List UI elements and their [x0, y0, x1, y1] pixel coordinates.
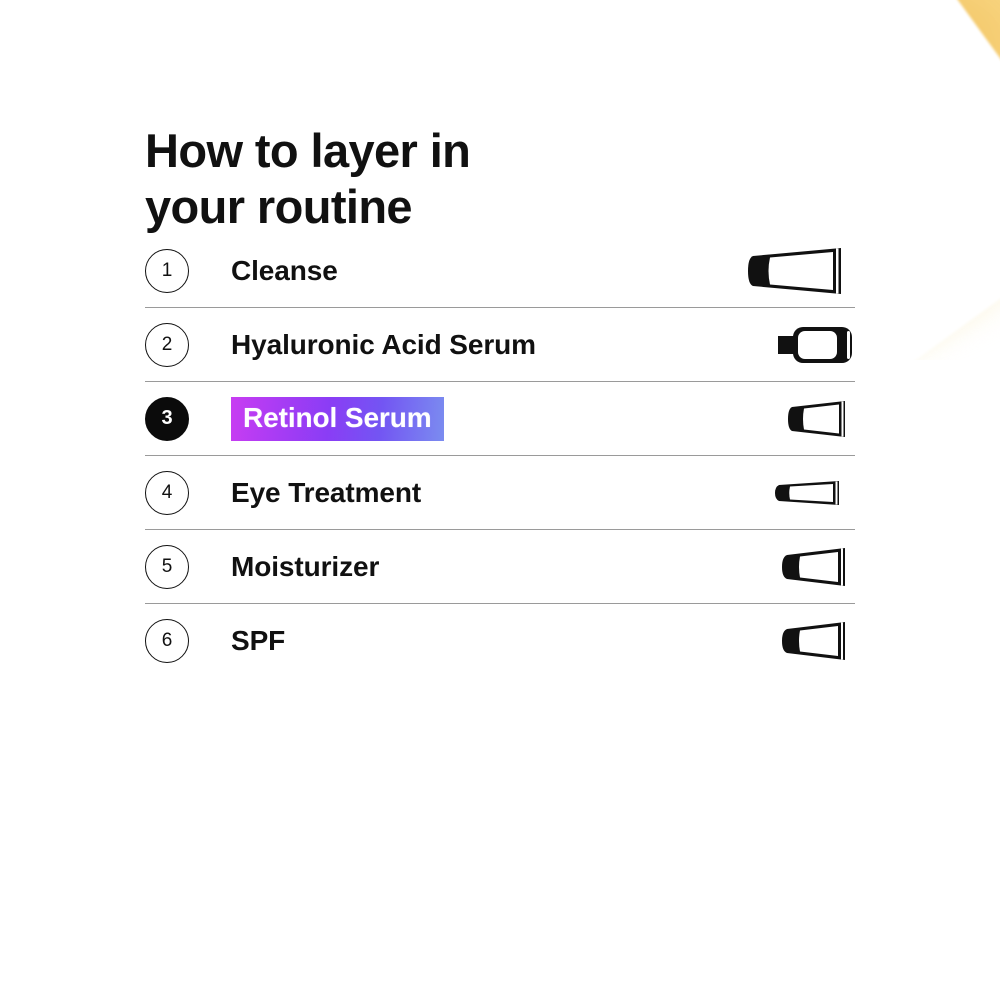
squeeze-tube-icon: [725, 389, 855, 449]
list-item[interactable]: 5 Moisturizer: [145, 530, 855, 603]
step-label: Cleanse: [231, 255, 338, 287]
step-number-badge: 6: [145, 619, 189, 663]
routine-layering-card: How to layer inyour routine 1 Cleanse 2 …: [0, 0, 1000, 1000]
page-title: How to layer inyour routine: [145, 123, 615, 235]
squeeze-tube-icon: [725, 463, 855, 523]
list-item[interactable]: 2 Hyaluronic Acid Serum: [145, 308, 855, 381]
list-item[interactable]: 6 SPF: [145, 604, 855, 677]
squeeze-tube-icon: [725, 537, 855, 597]
list-item[interactable]: 1 Cleanse: [145, 234, 855, 307]
watercolor-gold-accent-shape: [820, 0, 1000, 230]
step-number-badge: 1: [145, 249, 189, 293]
list-item[interactable]: 4 Eye Treatment: [145, 456, 855, 529]
step-label: Hyaluronic Acid Serum: [231, 329, 536, 361]
routine-steps-list: 1 Cleanse 2 Hyaluronic Acid Serum: [145, 234, 855, 677]
watercolor-edge-notch: [642, 196, 672, 222]
step-number-badge: 5: [145, 545, 189, 589]
step-label: Eye Treatment: [231, 477, 421, 509]
page-title-line-2: your routine: [145, 180, 412, 233]
watercolor-gold-shape: [620, 0, 1000, 160]
page-title-line-1: How to layer in: [145, 124, 470, 177]
serum-bottle-icon: [725, 315, 855, 375]
step-label: SPF: [231, 625, 285, 657]
squeeze-tube-icon: [725, 241, 855, 301]
step-label-highlighted: Retinol Serum: [231, 397, 444, 441]
step-number-badge: 3: [145, 397, 189, 441]
squeeze-tube-icon: [725, 611, 855, 671]
step-number-badge: 4: [145, 471, 189, 515]
step-label: Moisturizer: [231, 551, 379, 583]
list-item[interactable]: 3 Retinol Serum: [145, 382, 855, 455]
step-number-badge: 2: [145, 323, 189, 367]
